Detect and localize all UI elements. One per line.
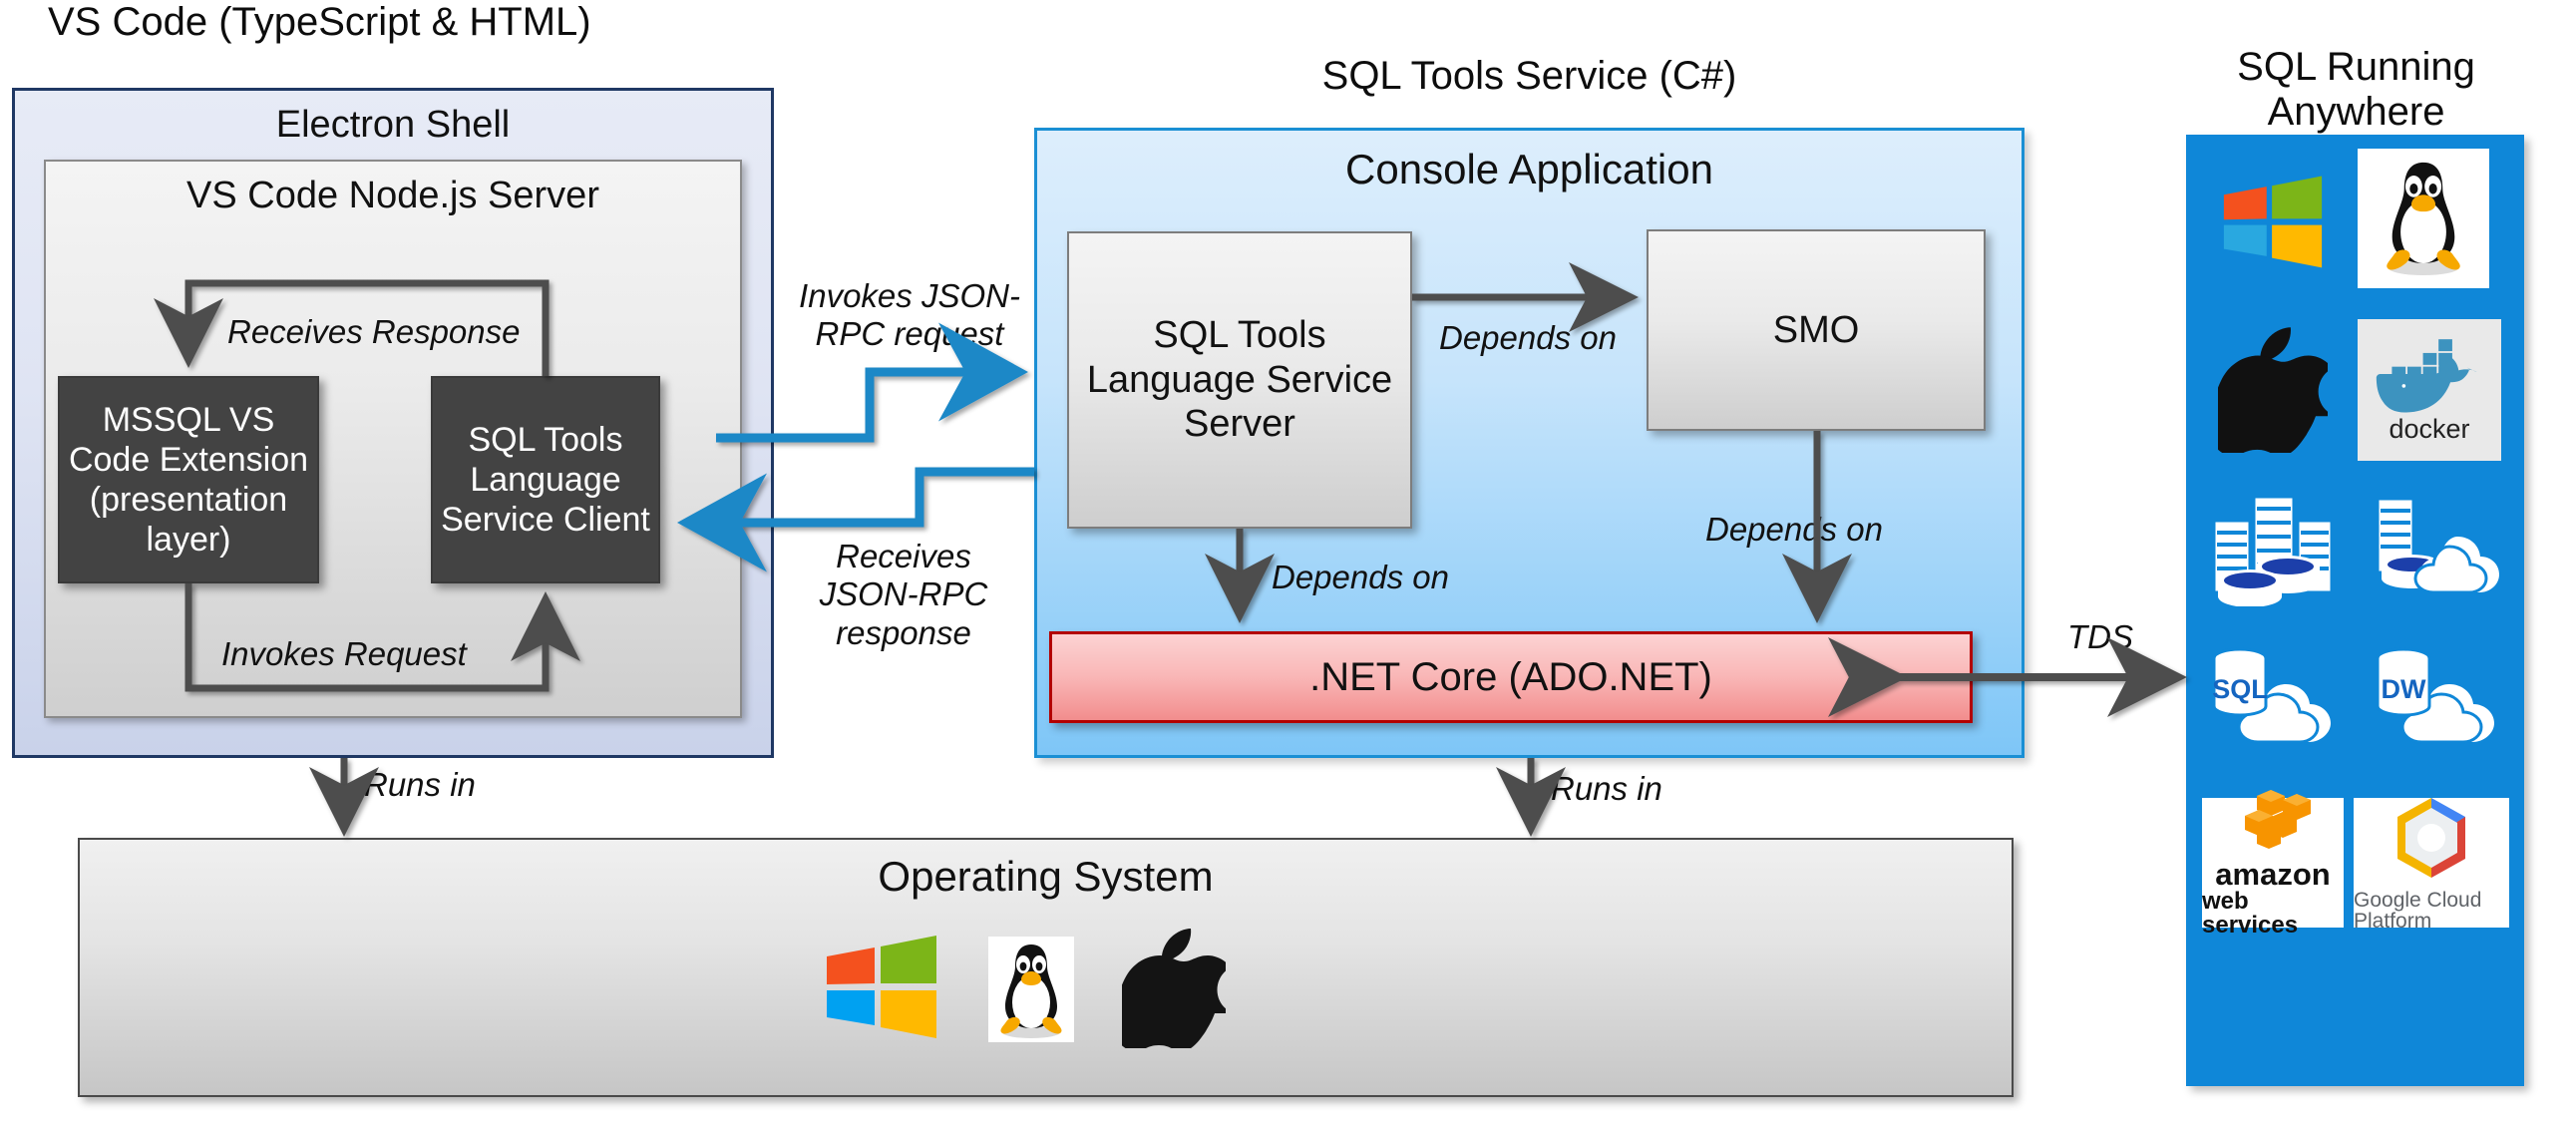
azure-sql-database-cell: SQL — [2194, 633, 2352, 765]
smo-box[interactable]: SMO — [1647, 229, 1986, 431]
label-depends-on-smo: Depends on — [1428, 319, 1628, 357]
sql-tools-language-service-server-label: SQL Tools Language Service Server — [1069, 313, 1410, 447]
sql-running-anywhere-panel: docker — [2186, 135, 2524, 1086]
label-runs-in-right: Runs in — [1551, 770, 1662, 808]
private-cloud-icon — [2364, 485, 2509, 611]
linux-tux-logo-icon — [988, 937, 1074, 1042]
apple-logo-icon — [1122, 925, 1226, 1053]
electron-shell-title: Electron Shell — [15, 105, 771, 147]
label-receives-response: Receives Response — [227, 313, 521, 351]
google-cloud-platform-logo-icon — [2382, 795, 2481, 886]
windows-logo-icon — [2220, 172, 2326, 276]
google-cloud-platform-logo-cell: Google Cloud Platform — [2354, 798, 2509, 928]
azure-sql-data-warehouse-caption: DW — [2382, 674, 2426, 704]
operating-system-panel: Operating System — [78, 838, 2014, 1097]
heading-sql-tools-service: SQL Tools Service (C#) — [1034, 54, 2024, 99]
azure-sql-data-warehouse-icon: DW — [2364, 636, 2509, 763]
label-depends-on-dotnet-left: Depends on — [1272, 559, 1449, 596]
azure-sql-database-caption: SQL — [2212, 674, 2268, 704]
operating-system-logos — [823, 925, 1226, 1053]
label-runs-in-left: Runs in — [364, 766, 476, 804]
label-depends-on-dotnet-right: Depends on — [1705, 511, 1883, 549]
dotnet-core-adonet-label: .NET Core (ADO.NET) — [1309, 655, 1712, 700]
mssql-vscode-extension-label: MSSQL VS Code Extension (presentation la… — [60, 400, 317, 560]
console-application-title: Console Application — [1037, 147, 2022, 192]
amazon-web-services-logo-cell: amazon web services — [2202, 798, 2344, 928]
heading-sql-running-anywhere: SQL Running Anywhere — [2174, 0, 2538, 134]
private-cloud-cell — [2358, 482, 2515, 613]
label-receives-jsonrpc-response: Receives JSON-RPC response — [784, 538, 1023, 652]
amazon-web-services-caption: amazon — [2215, 859, 2330, 890]
apple-logo-cell — [2198, 316, 2348, 464]
heading-vscode: VS Code (TypeScript & HTML) — [10, 0, 746, 45]
windows-logo-icon — [823, 931, 940, 1047]
label-invokes-request: Invokes Request — [221, 635, 467, 673]
windows-logo-cell — [2198, 159, 2348, 288]
amazon-web-services-caption2: web services — [2202, 890, 2344, 938]
label-tds: TDS — [2067, 618, 2133, 656]
google-cloud-platform-caption: Google Cloud Platform — [2354, 890, 2509, 932]
on-premises-datacenter-icon — [2200, 485, 2346, 611]
docker-logo-cell: docker — [2358, 319, 2501, 461]
mssql-vscode-extension-box[interactable]: MSSQL VS Code Extension (presentation la… — [58, 376, 319, 583]
docker-logo-caption: docker — [2389, 414, 2469, 445]
docker-logo-icon — [2375, 335, 2484, 418]
smo-label: SMO — [1773, 308, 1860, 353]
apple-logo-icon — [2218, 323, 2328, 458]
dotnet-core-adonet-box[interactable]: .NET Core (ADO.NET) — [1049, 631, 1973, 723]
on-premises-datacenter-cell — [2194, 482, 2352, 613]
sql-tools-language-service-client-label: SQL Tools Language Service Client — [433, 420, 658, 540]
linux-tux-logo-cell — [2358, 149, 2489, 288]
azure-sql-data-warehouse-cell: DW — [2358, 633, 2515, 765]
vscode-nodejs-server-title: VS Code Node.js Server — [46, 176, 740, 217]
linux-tux-logo-icon — [2376, 158, 2471, 280]
heading-sql-running-anywhere-text: SQL Running Anywhere — [2237, 45, 2475, 134]
label-invokes-jsonrpc-request: Invokes JSON-RPC request — [795, 277, 1024, 354]
sql-tools-language-service-client-box[interactable]: SQL Tools Language Service Client — [431, 376, 660, 583]
azure-sql-database-icon: SQL — [2200, 636, 2346, 763]
sql-tools-language-service-server-box[interactable]: SQL Tools Language Service Server — [1067, 231, 1412, 529]
operating-system-title: Operating System — [80, 854, 2012, 900]
amazon-web-services-logo-icon — [2219, 788, 2327, 855]
